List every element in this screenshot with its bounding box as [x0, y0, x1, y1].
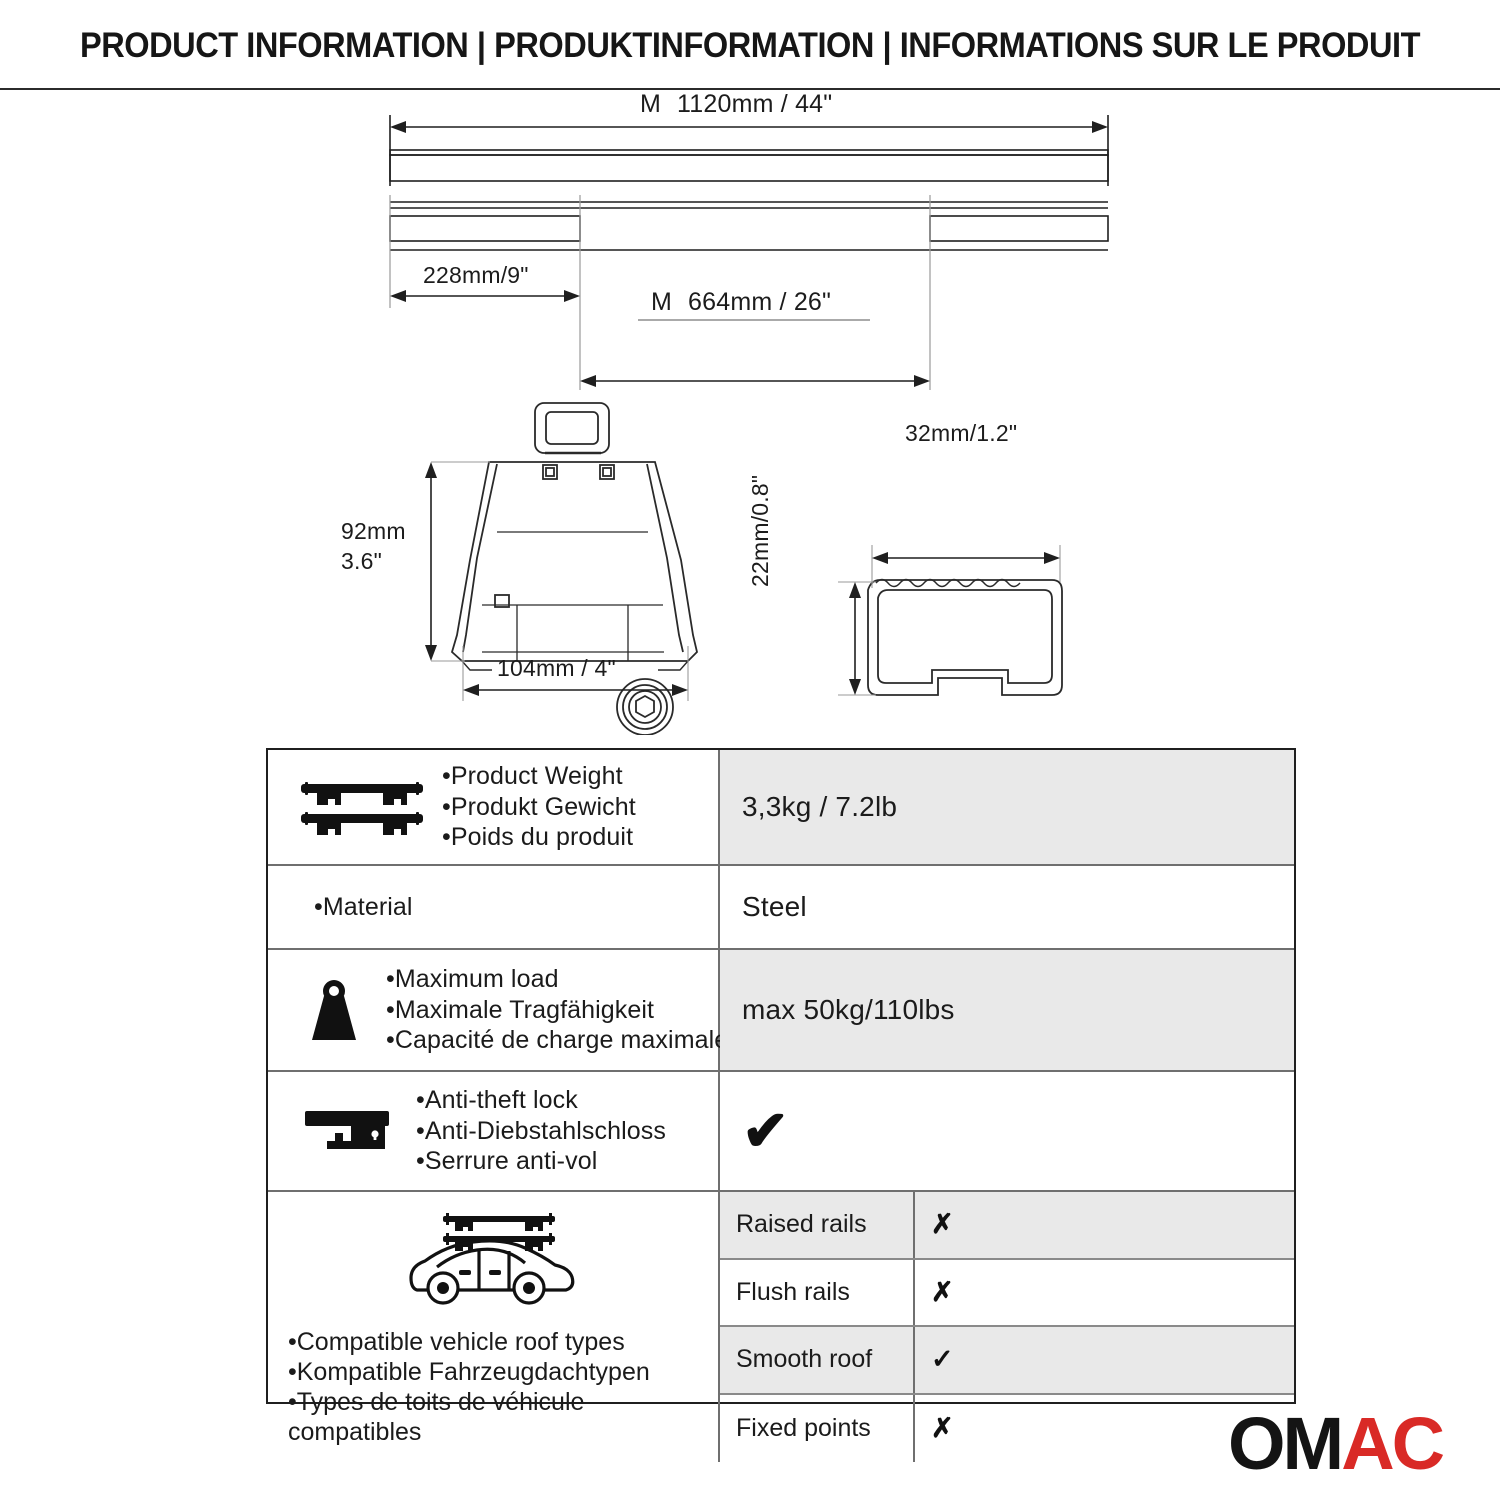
label-line-de: •Anti-Diebstahlschloss — [416, 1116, 666, 1147]
label-line-en: •Product Weight — [442, 761, 636, 792]
row-label-cell: •Product Weight •Produkt Gewicht •Poids … — [268, 750, 720, 864]
dimension-bar-length: M1120mm / 44" — [640, 90, 832, 119]
row-label-cell: •Maximum load •Maximale Tragfähigkeit •C… — [268, 950, 720, 1070]
dimension-foot-width: 104mm / 4" — [497, 655, 616, 682]
row-label-cell: •Anti-theft lock •Anti-Diebstahlschloss … — [268, 1072, 720, 1190]
label-line-fr: •Capacité de charge maximale — [386, 1025, 728, 1056]
label-line-de: •Kompatible Fahrzeugdachtypen — [288, 1357, 650, 1387]
car-with-roof-rack-icon — [401, 1204, 586, 1317]
label-line-fr: •Poids du produit — [442, 822, 636, 853]
dimension-foot-height-mm: 92mm — [341, 518, 406, 545]
row-value-maximum-load: max 50kg/110lbs — [720, 950, 1294, 1070]
label-line-en: •Anti-theft lock — [416, 1085, 666, 1116]
compat-option-label: Smooth roof — [720, 1327, 915, 1393]
compatibility-label-cell: •Compatible vehicle roof types •Kompatib… — [268, 1192, 720, 1462]
dimension-foot-height-in: 3.6" — [341, 548, 382, 575]
label-line-de: •Maximale Tragfähigkeit — [386, 995, 728, 1026]
logo-text-dark: OM — [1228, 1407, 1341, 1481]
logo-text-red: AC — [1341, 1407, 1442, 1481]
checkmark-icon: ✓ — [915, 1327, 1294, 1393]
row-label-cell: •Material — [268, 866, 720, 948]
dimension-value: 664mm / 26" — [688, 288, 831, 316]
logo-wordmark: OMAC — [1228, 1407, 1442, 1481]
compat-option-label: Raised rails — [720, 1192, 915, 1258]
compat-option-label: Fixed points — [720, 1395, 915, 1463]
dimension-value: 92mm — [341, 518, 406, 544]
compat-option-fixed-points: Fixed points ✗ — [720, 1395, 1294, 1463]
compat-option-flush-rails: Flush rails ✗ — [720, 1260, 1294, 1328]
label-line-fr: •Serrure anti-vol — [416, 1146, 666, 1177]
compatibility-label-text: •Compatible vehicle roof types •Kompatib… — [268, 1317, 650, 1447]
compatibility-options-list: Raised rails ✗ Flush rails ✗ Smooth roof… — [720, 1192, 1294, 1462]
compat-option-raised-rails: Raised rails ✗ — [720, 1192, 1294, 1260]
dimension-value: 32mm/1.2" — [905, 420, 1017, 446]
dimension-value: 228mm/9" — [423, 262, 529, 288]
compat-option-smooth-roof: Smooth roof ✓ — [720, 1327, 1294, 1395]
label-line-fr: •Types de toits de véhicule — [288, 1387, 650, 1417]
dimension-foot-offset: 228mm/9" — [423, 262, 529, 289]
dimension-prefix: M — [651, 288, 672, 316]
omac-logo: OMAC — [1228, 1408, 1478, 1480]
dimension-profile-height: 22mm/0.8" — [747, 475, 774, 587]
dimension-value: 3.6" — [341, 548, 382, 574]
dimension-value: 22mm/0.8" — [747, 475, 773, 587]
table-row-compatible-roof-types: •Compatible vehicle roof types •Kompatib… — [268, 1192, 1294, 1462]
compat-option-label: Flush rails — [720, 1260, 915, 1326]
checkmark-icon: ✔ — [742, 1103, 789, 1159]
cross-icon: ✗ — [915, 1192, 1294, 1258]
table-row-material: •Material Steel — [268, 866, 1294, 950]
table-row-product-weight: •Product Weight •Produkt Gewicht •Poids … — [268, 750, 1294, 866]
row-value-product-weight: 3,3kg / 7.2lb — [720, 750, 1294, 864]
technical-drawing-area: M1120mm / 44" 228mm/9" M664mm / 26" 92mm… — [0, 90, 1500, 735]
row-label-text: •Anti-theft lock •Anti-Diebstahlschloss … — [416, 1085, 666, 1177]
row-label-text: •Product Weight •Produkt Gewicht •Poids … — [442, 761, 636, 853]
label-line-fr-cont: compatibles — [288, 1417, 650, 1447]
roof-bars-icon — [282, 776, 442, 838]
lock-icon — [282, 1103, 416, 1159]
dimension-value: 104mm / 4" — [497, 655, 616, 681]
row-label-text: •Material — [282, 892, 413, 923]
label-line-en: •Compatible vehicle roof types — [288, 1327, 650, 1357]
dimension-profile-width: 32mm/1.2" — [905, 420, 1017, 447]
table-row-maximum-load: •Maximum load •Maximale Tragfähigkeit •C… — [268, 950, 1294, 1072]
label-line-de: •Produkt Gewicht — [442, 792, 636, 823]
drawing-svg — [0, 90, 1500, 735]
label-line-en: •Maximum load — [386, 964, 728, 995]
page-title: PRODUCT INFORMATION | PRODUKTINFORMATION… — [53, 26, 1448, 66]
row-label-text: •Maximum load •Maximale Tragfähigkeit •C… — [386, 964, 728, 1056]
label-line-en: •Material — [314, 892, 413, 923]
specification-table: •Product Weight •Produkt Gewicht •Poids … — [266, 748, 1296, 1404]
dimension-value: 1120mm / 44" — [677, 90, 832, 118]
page-header: PRODUCT INFORMATION | PRODUKTINFORMATION… — [0, 0, 1500, 88]
dimension-prefix: M — [640, 90, 661, 118]
row-value-anti-theft-lock: ✔ — [720, 1072, 1294, 1190]
row-value-material: Steel — [720, 866, 1294, 948]
dimension-bar-spread: M664mm / 26" — [651, 288, 831, 317]
weight-icon — [282, 974, 386, 1046]
table-row-anti-theft-lock: •Anti-theft lock •Anti-Diebstahlschloss … — [268, 1072, 1294, 1192]
cross-icon: ✗ — [915, 1260, 1294, 1326]
